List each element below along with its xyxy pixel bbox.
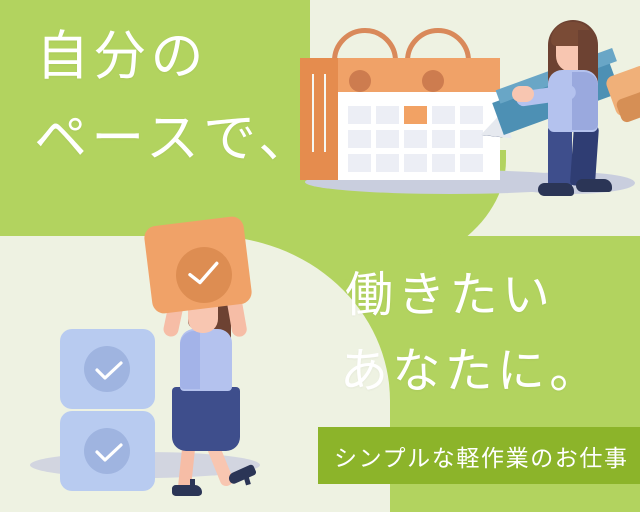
torso-shade: [572, 72, 598, 130]
banner-root: 自分の ペースで、 働きたい あなたに。 シンプルな軽作業のお仕事: [0, 0, 640, 512]
calendar-cell: [348, 154, 371, 172]
calendar-cell: [348, 106, 371, 124]
calendar-cell: [376, 106, 399, 124]
leg-left: [548, 124, 572, 190]
calendar-cell: [432, 154, 455, 172]
calendar-ring-dot-1: [349, 70, 371, 92]
headline-line-1: 自分の: [36, 30, 208, 83]
shoe-left: [172, 485, 202, 496]
headline-line-4: あなたに。: [340, 348, 602, 396]
calendar-cell: [432, 106, 455, 124]
hand: [512, 86, 534, 102]
calendar-cell: [404, 154, 427, 172]
shoe-left: [538, 183, 574, 196]
tagline-band: シンプルな軽作業のお仕事: [318, 427, 640, 484]
headline-line-2: ペースで、: [34, 112, 315, 165]
torso-shade: [180, 331, 200, 389]
leg-right: [570, 123, 599, 187]
skirt: [172, 387, 240, 451]
check-icon: [95, 361, 123, 381]
check-icon: [95, 443, 123, 463]
shoe-right: [576, 179, 612, 192]
check-icon: [187, 261, 221, 287]
headline-line-3: 働きたい: [345, 272, 554, 320]
boxes-illustration: [0, 215, 310, 512]
calendar-cell: [376, 154, 399, 172]
woman-with-pencil: [520, 16, 630, 196]
tagline-text: シンプルな軽作業のお仕事: [334, 439, 629, 473]
calendar-cell: [404, 130, 427, 148]
calendar-cell-highlighted: [404, 106, 427, 124]
calendar-cell: [432, 130, 455, 148]
calendar-ring-dot-2: [422, 70, 444, 92]
calendar-illustration: [290, 0, 640, 236]
calendar-cell: [348, 130, 371, 148]
calendar-spine-line-2: [324, 74, 326, 152]
shoe-right: [227, 464, 257, 485]
calendar-cell: [376, 130, 399, 148]
